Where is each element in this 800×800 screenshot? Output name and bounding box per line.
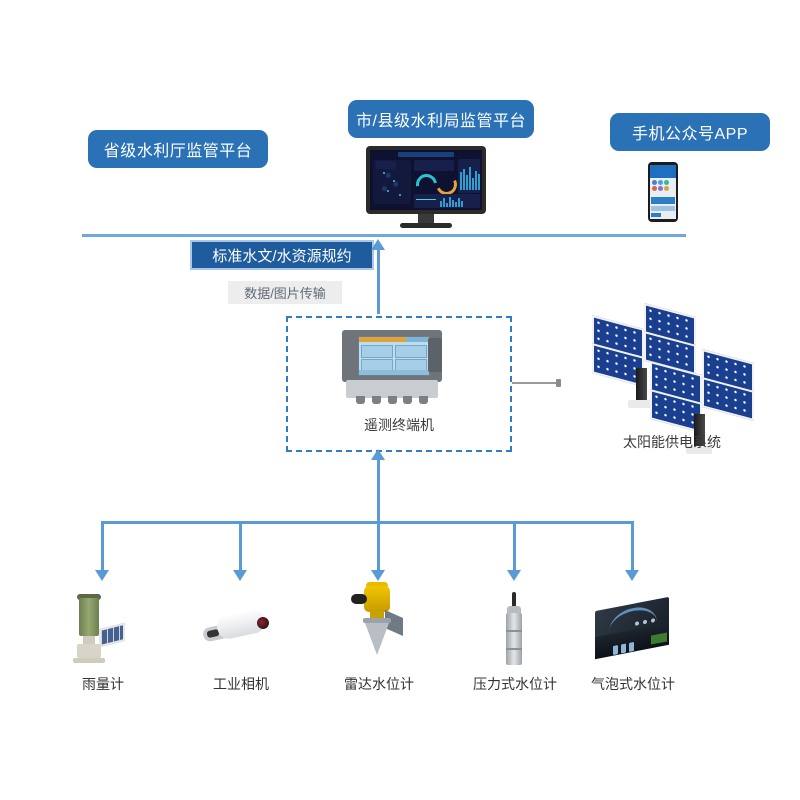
rtu-lcd-header [359, 337, 429, 342]
sensor-pressure-level-label: 压力式水位计 [455, 674, 575, 694]
rtu-label: 遥测终端机 [286, 415, 512, 435]
monitor-illustration [366, 146, 486, 232]
phone-icon-grid [652, 180, 674, 191]
rtu-lcd-screen [358, 336, 430, 376]
sensor-pressure-level[interactable]: 压力式水位计 [455, 590, 575, 670]
sensor-uplink-arrow [371, 449, 385, 460]
sensor-bus-line [101, 521, 634, 524]
backbone-line [82, 234, 686, 237]
dashboard-mini-bars [440, 196, 463, 207]
sensor-industrial-camera-label: 工业相机 [181, 674, 301, 694]
solar-power-label-text: 太阳能供电系统 [623, 434, 721, 450]
transmission-text: 数据/图片传输 [244, 283, 326, 302]
branch-arrow-4 [507, 570, 521, 581]
branch-arrow-1 [95, 570, 109, 581]
branch-line-2 [239, 521, 242, 570]
platform-province-button[interactable]: 省级水利厅监管平台 [88, 130, 268, 168]
protocol-text: 标准水文/水资源规约 [212, 245, 351, 266]
uplink-line [377, 248, 380, 314]
solar-power-label: 太阳能供电系统 [592, 432, 752, 452]
phone-screen [650, 165, 676, 219]
sensor-industrial-camera[interactable]: 工业相机 [181, 590, 301, 670]
antenna-rod [512, 382, 560, 384]
uplink-arrow [371, 239, 385, 250]
platform-app-label: 手机公众号APP [632, 120, 748, 144]
phone-list-row [651, 206, 675, 211]
rtu-connector-block [428, 338, 442, 372]
bubbler-level-icon [573, 590, 693, 670]
branch-arrow-5 [625, 570, 639, 581]
sensor-uplink-line [377, 457, 380, 523]
platform-city-button[interactable]: 市/县级水利局监管平台 [348, 100, 534, 138]
monitor-base [400, 223, 452, 228]
antenna-tip-icon [556, 379, 561, 387]
sensor-rain-gauge[interactable]: 雨量计 [43, 590, 163, 670]
sensor-radar-level[interactable]: 雷达水位计 [319, 580, 439, 660]
rtu-case [342, 330, 442, 382]
branch-line-5 [631, 521, 634, 570]
branch-line-1 [101, 521, 104, 570]
phone-footer-button [651, 213, 661, 217]
sensor-radar-level-label: 雷达水位计 [319, 674, 439, 694]
platform-province-label: 省级水利厅监管平台 [104, 137, 253, 161]
dashboard-kpi-panel [376, 161, 396, 169]
radar-level-icon [319, 580, 439, 660]
monitor-bezel [366, 146, 486, 214]
platform-city-label: 市/县级水利局监管平台 [356, 107, 526, 131]
rtu-cable-glands [356, 396, 428, 404]
dashboard-title-bar [398, 152, 454, 157]
phone-app-header [650, 165, 676, 178]
sensor-bubbler-level-label: 气泡式水位计 [573, 674, 693, 694]
rtu-lcd-footer [359, 370, 429, 375]
sensor-bubbler-level[interactable]: 气泡式水位计 [573, 590, 693, 670]
smartphone-illustration [648, 162, 678, 222]
camera-icon [181, 590, 301, 670]
diagram-canvas: 省级水利厅监管平台 市/县级水利局监管平台 手机公众号APP [0, 0, 800, 800]
pressure-level-icon [455, 590, 575, 670]
branch-line-4 [513, 521, 516, 570]
sensor-rain-gauge-label: 雨量计 [43, 674, 163, 694]
dashboard-stats-panel [414, 160, 454, 171]
dashboard-bars [460, 166, 480, 190]
phone-banner [651, 197, 675, 204]
transmission-label: 数据/图片传输 [228, 281, 342, 304]
solar-power-illustration [592, 300, 752, 450]
monitor-screen [370, 150, 482, 210]
rtu-label-text: 遥测终端机 [364, 417, 434, 433]
rain-gauge-icon [43, 590, 163, 670]
rtu-device-illustration [336, 330, 456, 404]
branch-line-3 [377, 521, 380, 570]
platform-app-button[interactable]: 手机公众号APP [610, 113, 770, 151]
protocol-label: 标准水文/水资源规约 [190, 240, 374, 270]
branch-arrow-2 [233, 570, 247, 581]
